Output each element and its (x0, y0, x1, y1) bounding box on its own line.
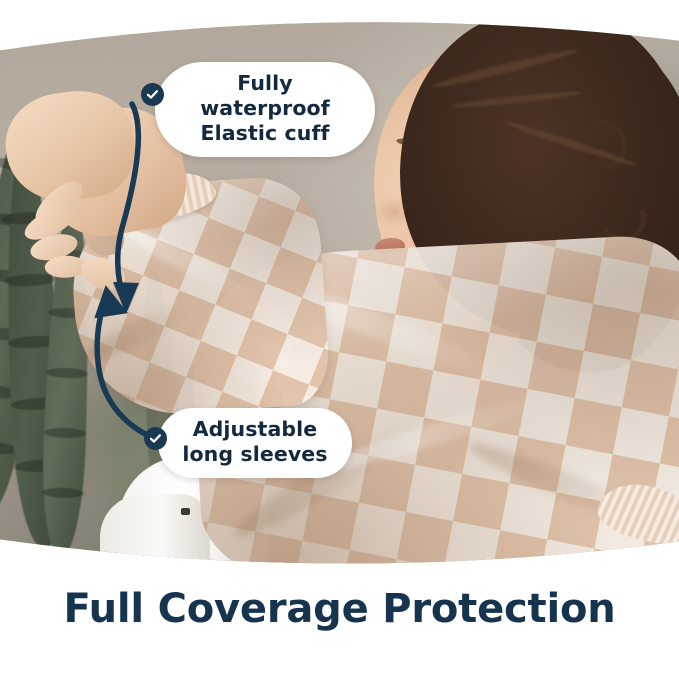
check-circle-icon (141, 83, 164, 106)
callout-pill: Fully waterproof Elastic cuff (155, 62, 375, 157)
headline: Full Coverage Protection (0, 586, 679, 632)
callout-pill: Adjustable long sleeves (158, 408, 352, 478)
callout-label: Adjustable long sleeves (182, 417, 327, 467)
marketing-image: Fully waterproof Elastic cuff Adjustable… (0, 0, 679, 679)
callout-label: Fully waterproof Elastic cuff (179, 71, 351, 146)
check-circle-icon (144, 427, 167, 450)
